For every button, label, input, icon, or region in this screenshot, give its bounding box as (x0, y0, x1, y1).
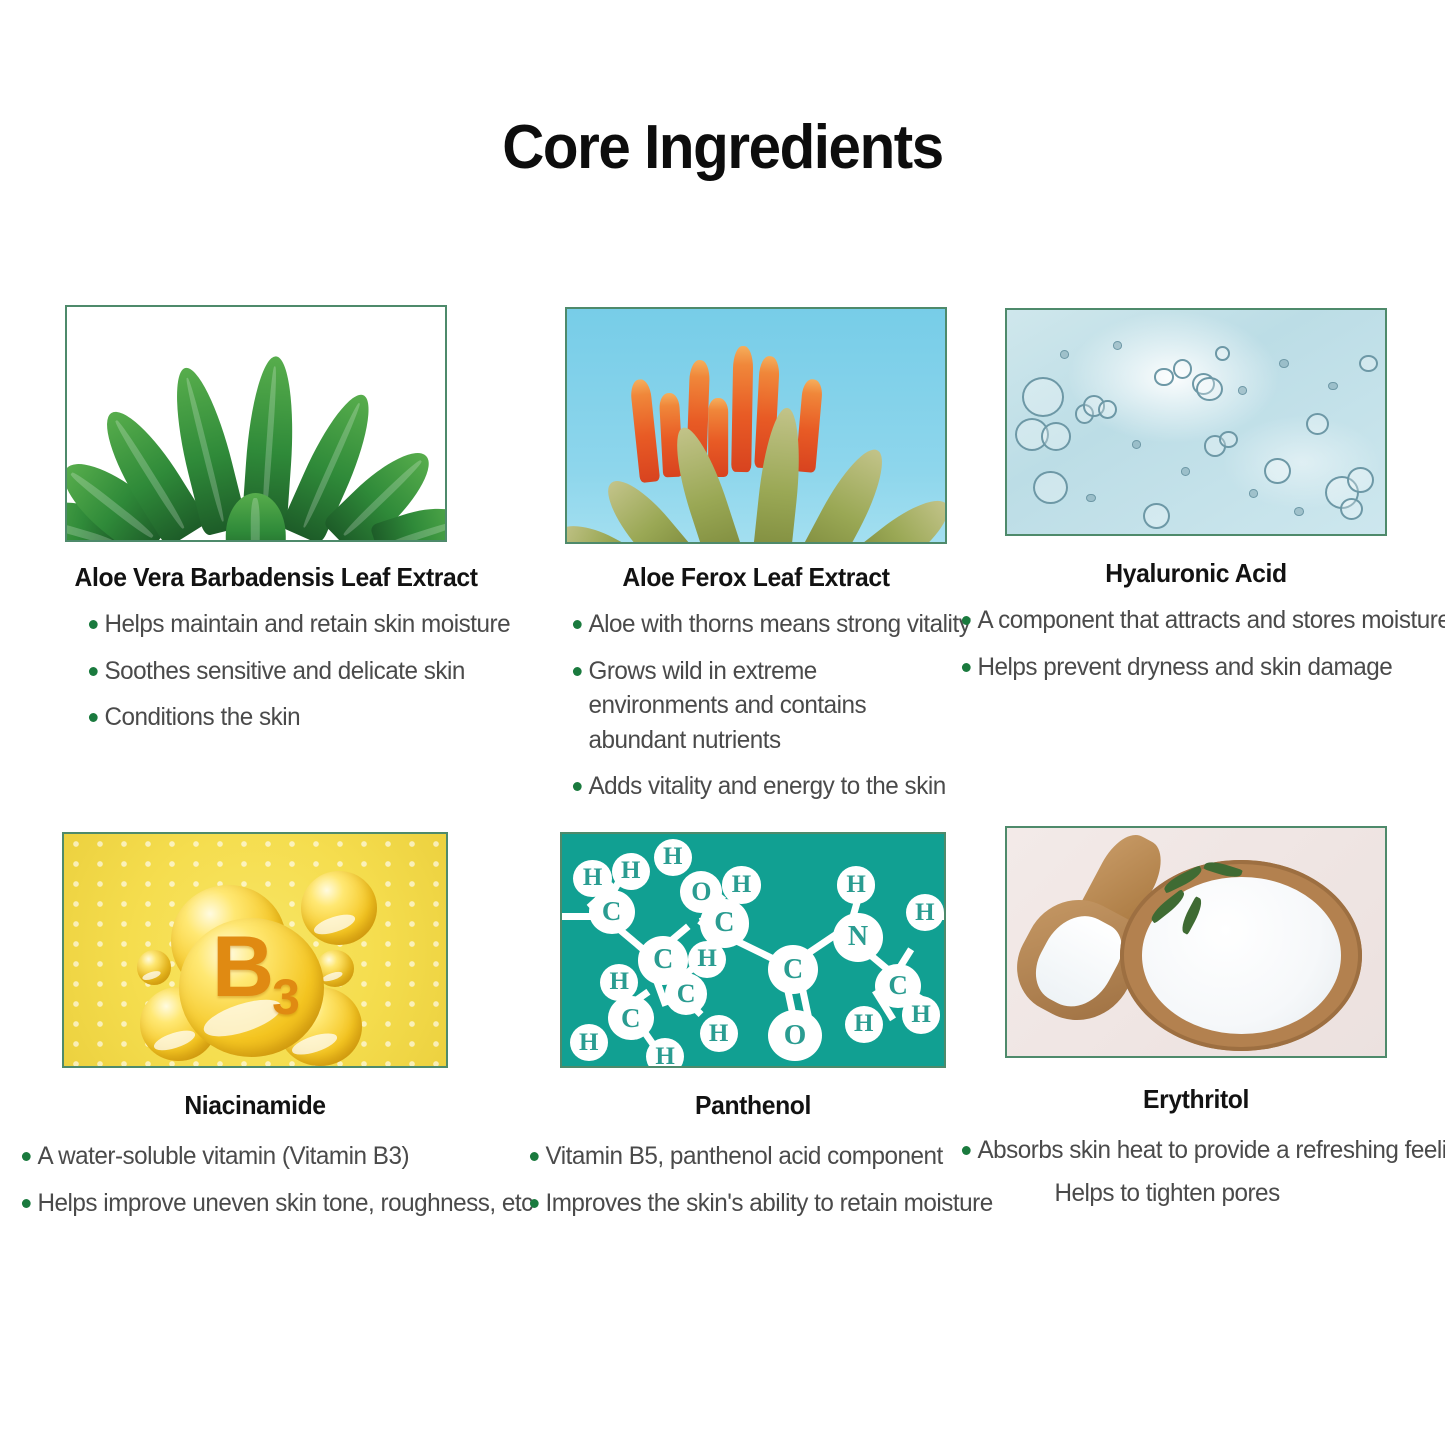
list-item: Adds vitality and energy to the skin (571, 769, 936, 804)
list-item: A water-soluble vitamin (Vitamin B3) (20, 1139, 435, 1174)
atom-n: N (833, 913, 883, 962)
b3-subscript: 3 (272, 969, 298, 1025)
atom-h: H (700, 1015, 738, 1052)
ingredient-card-panthenol: H H C H O H C C H C H C H H H C O N H C … (560, 832, 946, 1232)
ingredient-card-niacinamide: B3 Niacinamide A water-soluble vitamin (… (62, 832, 448, 1232)
atom-c: C (768, 945, 818, 994)
list-item: Helps prevent dryness and skin damage (960, 650, 1374, 685)
list-item: Helps improve uneven skin tone, roughnes… (20, 1186, 435, 1221)
atom-h: H (845, 1006, 883, 1043)
wooden-bowl (1120, 860, 1362, 1052)
benefit-list: Aloe with thorns means strong vitality G… (571, 607, 947, 804)
atom-h: H (837, 866, 875, 903)
b3-label: B3 (64, 918, 446, 1026)
benefit-list: Helps maintain and retain skin moisture … (87, 607, 447, 735)
list-item: Aloe with thorns means strong vitality (571, 607, 936, 642)
benefit-list: Absorbs skin heat to provide a refreshin… (960, 1133, 1387, 1210)
benefit-list: A component that attracts and stores moi… (960, 603, 1387, 684)
aloe-vera-photo (67, 307, 445, 540)
card-heading: Hyaluronic Acid (1015, 558, 1378, 589)
atom-h: H (688, 941, 726, 978)
card-heading: Aloe Vera Barbadensis Leaf Extract (75, 562, 438, 593)
atom-h: H (906, 894, 944, 931)
benefit-list: A water-soluble vitamin (Vitamin B3) Hel… (20, 1139, 448, 1220)
panthenol-image: H H C H O H C C H C H C H H H C O N H C … (560, 832, 946, 1068)
card-heading: Panthenol (570, 1090, 937, 1121)
list-item: Grows wild in extreme environments and c… (571, 654, 949, 758)
atom-c: C (608, 996, 654, 1040)
atom-h: H (722, 866, 760, 903)
page-title: Core Ingredients (43, 112, 1401, 183)
atom-c: C (589, 890, 635, 934)
ingredient-card-erythritol: Erythritol Absorbs skin heat to provide … (1005, 826, 1387, 1222)
card-heading: Aloe Ferox Leaf Extract (575, 562, 938, 593)
list-item-extra: Helps to tighten pores (960, 1176, 1374, 1211)
atom-h: H (570, 1024, 608, 1061)
aloe-vera-image (65, 305, 447, 542)
list-item: Helps maintain and retain skin moisture (87, 607, 436, 642)
b3-letter: B (212, 919, 272, 1015)
hyaluronic-acid-image (1005, 308, 1387, 536)
list-item: Absorbs skin heat to provide a refreshin… (960, 1133, 1374, 1168)
list-item: A component that attracts and stores moi… (960, 603, 1374, 638)
card-heading: Niacinamide (72, 1090, 439, 1121)
erythritol-image (1005, 826, 1387, 1058)
scoop-crystals (1025, 903, 1132, 1019)
panthenol-molecule-diagram: H H C H O H C C H C H C H H H C O N H C … (562, 834, 944, 1066)
atom-h: H (654, 839, 692, 876)
atom-h: H (646, 1038, 684, 1068)
ingredient-card-aloe-vera: Aloe Vera Barbadensis Leaf Extract Helps… (65, 305, 447, 747)
list-item: Soothes sensitive and delicate skin (87, 654, 436, 689)
atom-h: H (902, 996, 940, 1033)
card-heading: Erythritol (1015, 1084, 1378, 1115)
list-item: Improves the skin's ability to retain mo… (528, 1186, 933, 1221)
aloe-ferox-photo (567, 309, 945, 542)
erythritol-photo (1007, 828, 1385, 1056)
atom-h: H (612, 853, 650, 890)
hyaluronic-gel-photo (1007, 310, 1385, 534)
ingredient-card-aloe-ferox: Aloe Ferox Leaf Extract Aloe with thorns… (565, 307, 947, 816)
vitamin-b3-graphic: B3 (64, 834, 446, 1066)
atom-c: C (665, 973, 707, 1015)
atom-o: O (768, 1010, 821, 1061)
benefit-list: Vitamin B5, panthenol acid component Imp… (528, 1139, 946, 1220)
ingredient-card-hyaluronic-acid: Hyaluronic Acid A component that attract… (1005, 308, 1387, 696)
list-item: Conditions the skin (87, 700, 436, 735)
list-item: Vitamin B5, panthenol acid component (528, 1139, 933, 1174)
niacinamide-image: B3 (62, 832, 448, 1068)
aloe-ferox-image (565, 307, 947, 544)
